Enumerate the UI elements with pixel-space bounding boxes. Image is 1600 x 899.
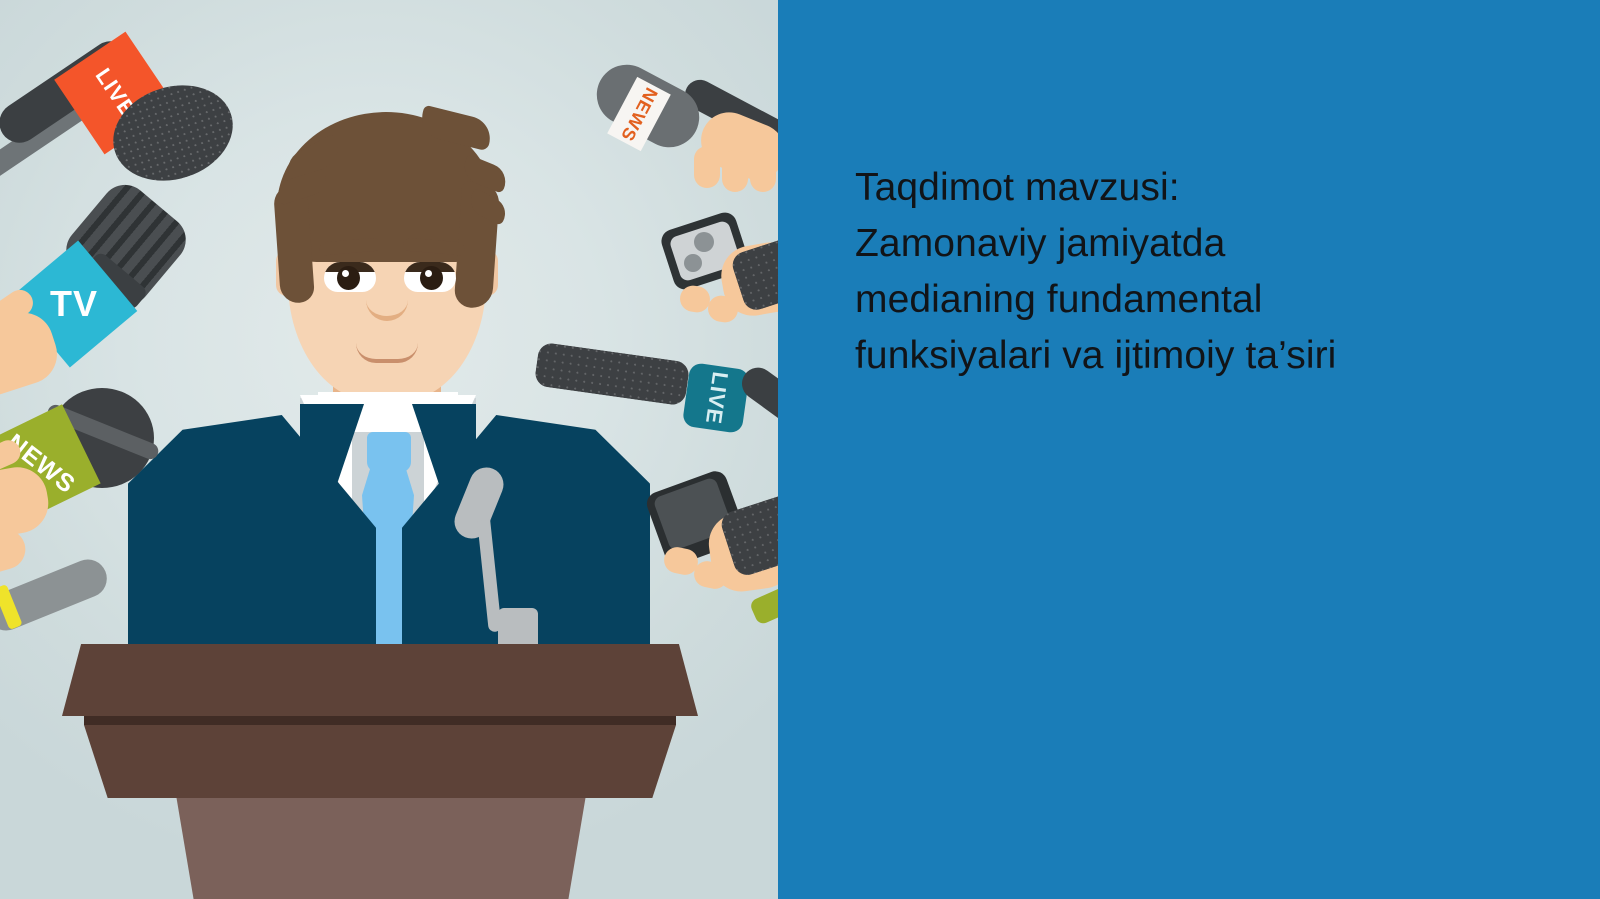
podium-top-panel [62, 644, 698, 716]
necktie-knot [367, 432, 411, 472]
mic-flag-label: LIVE [699, 370, 732, 426]
title-panel [800, 0, 1600, 899]
slide-title-line-4: funksiyalari va ijtimoiy ta’siri [855, 328, 1475, 384]
mic-mesh-bar [534, 342, 691, 407]
pupil-left [337, 266, 360, 290]
image-edge-overlay-strip [778, 0, 802, 899]
mic-flag-label: TV [50, 283, 98, 325]
eye-right [404, 262, 456, 292]
reporter-finger-nw-2 [722, 150, 748, 192]
pupil-right [420, 266, 443, 290]
press-conference-illustration: LIVE TV NEWS [0, 0, 778, 899]
suit-lapel-left [300, 404, 364, 594]
slide-title-line-2: Zamonaviy jamiyatda [855, 216, 1475, 272]
podium-base-column [168, 798, 594, 899]
podium-mid-panel [84, 725, 676, 798]
slide-title-line-1: Taqdimot mavzusi: [855, 160, 1475, 216]
recorder-knob-top [694, 232, 714, 252]
mic-flag-live-teal: LIVE [682, 362, 750, 434]
presentation-slide: LIVE TV NEWS [0, 0, 1600, 899]
reporter-finger-nw-1 [694, 146, 720, 188]
slide-title-line-3: medianing fundamental [855, 272, 1475, 328]
microphone-olive-tip [749, 584, 778, 626]
recorder-knob-bottom [684, 254, 702, 272]
reporter-finger-nw-3 [750, 150, 776, 192]
slide-title: Taqdimot mavzusi: Zamonaviy jamiyatda me… [855, 160, 1475, 384]
reporter-hand-gray [0, 525, 30, 584]
podium-shadow-gap [84, 716, 676, 725]
eye-left [324, 262, 376, 292]
